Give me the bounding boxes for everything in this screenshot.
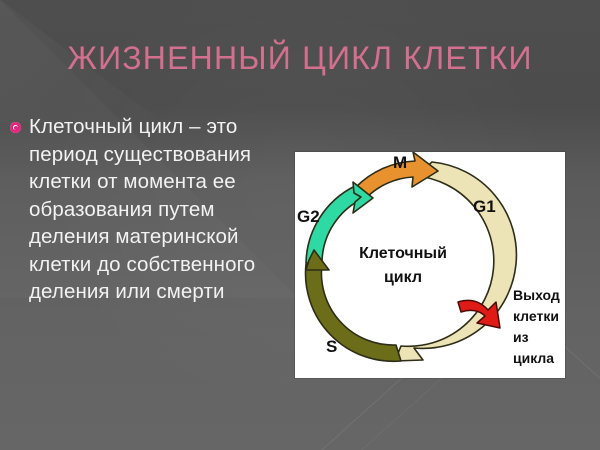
bullet-list: Клеточный цикл – это период существовани… — [10, 113, 298, 306]
cell-cycle-diagram-image: M G1 G2 S Клеточный цикл Выход клетки из… — [295, 152, 565, 378]
phase-label-g1: G1 — [473, 197, 496, 216]
exit-label-line1: Выход — [513, 287, 560, 303]
diagram-center-line1: Клеточный — [359, 245, 447, 262]
page-title: ЖИЗНЕННЫЙ ЦИКЛ КЛЕТКИ — [0, 40, 600, 77]
phase-label-s: S — [326, 337, 337, 356]
phase-label-g2: G2 — [297, 207, 320, 226]
exit-label-line2: клетки — [513, 308, 559, 324]
slide: ЖИЗНЕННЫЙ ЦИКЛ КЛЕТКИ Клеточный цикл – э… — [0, 0, 600, 450]
exit-label-line3: из — [513, 329, 529, 345]
phase-label-m: M — [393, 153, 407, 172]
bullet-marker-icon — [10, 122, 21, 133]
phase-arc-s — [306, 250, 401, 361]
bullet-item-text: Клеточный цикл – это период существовани… — [29, 113, 298, 306]
exit-label-line4: цикла — [513, 350, 554, 366]
diagram-center-line2: цикл — [384, 269, 422, 286]
cell-cycle-svg: M G1 G2 S Клеточный цикл Выход клетки из… — [295, 152, 565, 378]
